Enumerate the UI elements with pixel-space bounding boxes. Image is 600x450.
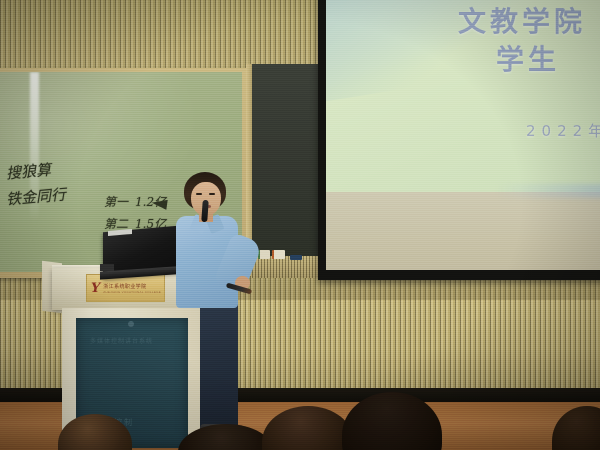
alcove-ledge <box>252 256 322 278</box>
whiteboard-note-line-2: 铁金同行 <box>5 181 67 212</box>
podium-institution-plaque: Y 浙江系统职业学院 ZHEJIANG VOCATIONAL COLLEGE <box>86 274 165 302</box>
institution-subtitle: ZHEJIANG VOCATIONAL COLLEGE <box>103 290 161 294</box>
slide-title-line-1: 文教学院 <box>458 0 586 40</box>
slide-year-text: 2022年 <box>526 120 600 141</box>
speaker-legs <box>200 300 238 430</box>
whiteboard-list-label: 第一 <box>104 193 128 210</box>
ledge-item-box <box>258 250 270 259</box>
screen-sheen <box>496 184 600 198</box>
ledge-item-box <box>290 255 302 260</box>
speaker-eye-left <box>196 193 202 195</box>
plaque-text-block: 浙江系统职业学院 ZHEJIANG VOCATIONAL COLLEGE <box>103 283 161 294</box>
projection-screen: 文教学院 学生 2022年 <box>326 0 600 270</box>
whiteboard-left-notes: 搜狼算 铁金同行 <box>6 158 66 210</box>
institution-name: 浙江系统职业学院 <box>103 283 161 290</box>
lecture-hall-photo: 搜狼算 铁金同行 第一 1.2亿 第二 1.5亿 第三 2亿 第四 0.3亿 ◄ <box>0 0 600 450</box>
arrow-left-icon: ◄ <box>150 189 169 215</box>
podium-panel-knob <box>128 321 134 327</box>
ledge-item-box <box>272 250 285 259</box>
podium-panel-top-text: 多媒体控制讲台系统 <box>90 336 153 345</box>
screen-unlit-band <box>326 192 600 270</box>
slide-title-line-2: 学生 <box>496 38 560 78</box>
institution-logo-icon: Y <box>91 282 100 295</box>
speaker-eye-right <box>209 193 215 195</box>
wall-alcove <box>252 64 322 276</box>
